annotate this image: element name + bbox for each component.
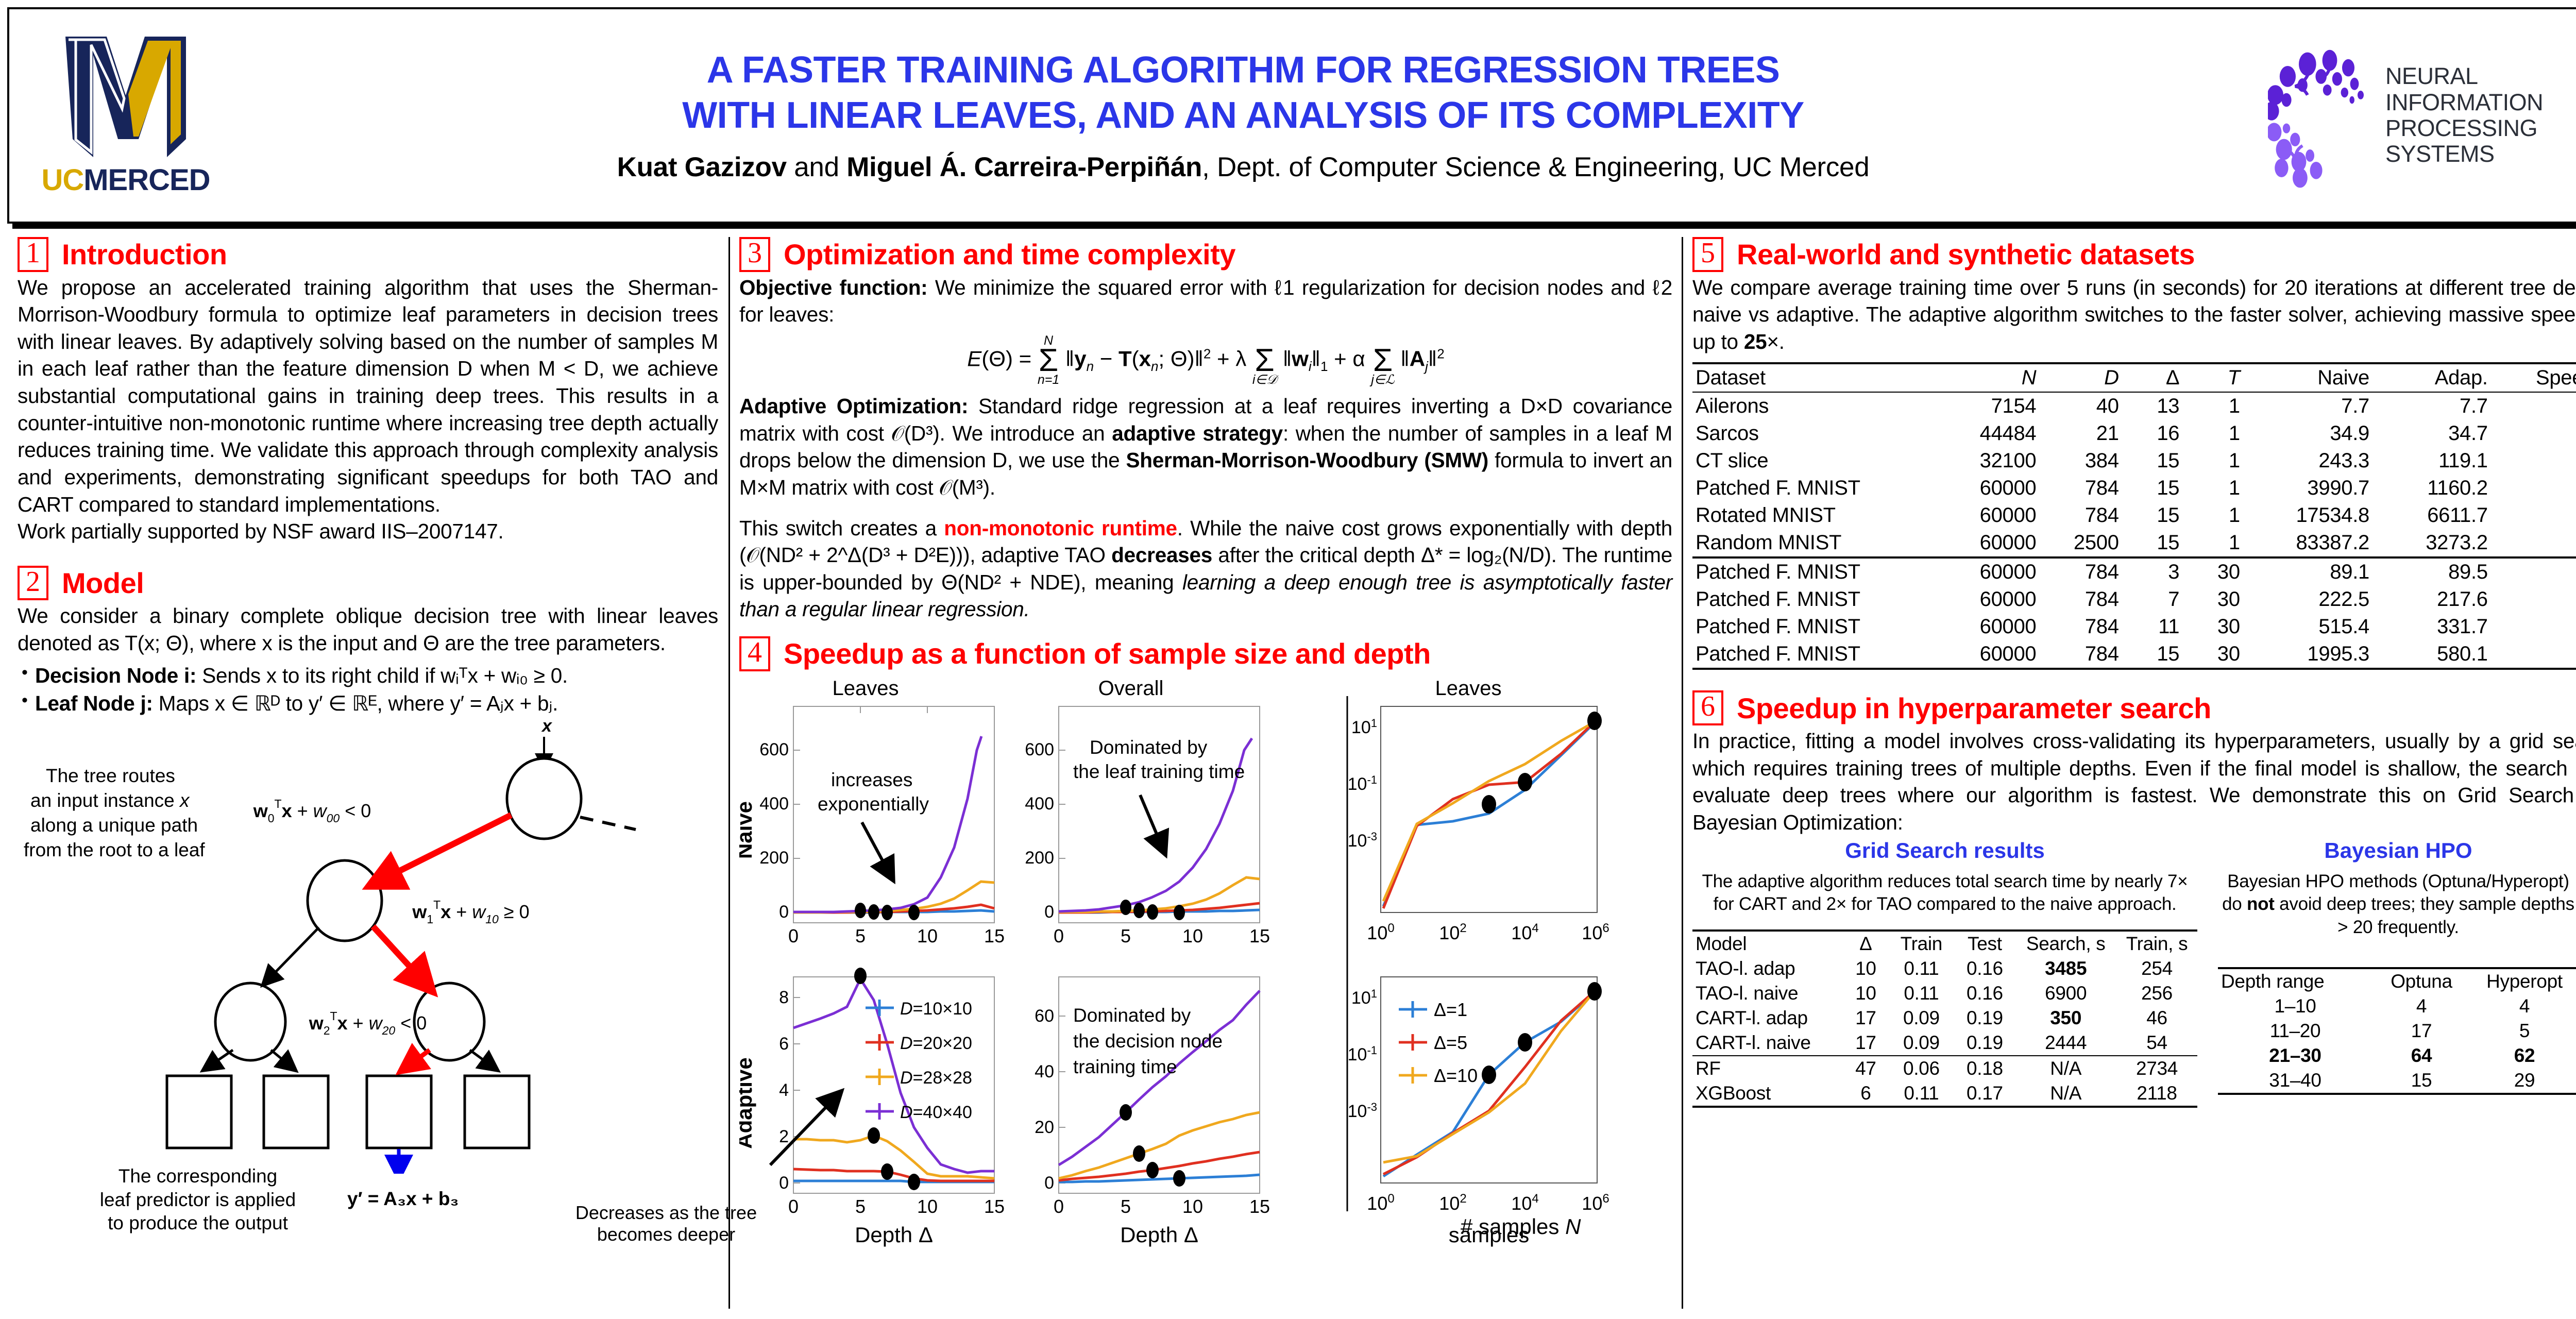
- svg-text:106: 106: [1582, 1192, 1609, 1214]
- section-1-heading: 1 Introduction: [18, 237, 718, 272]
- plot-title-overall: Overall: [1098, 677, 1164, 700]
- dataset-value-cell: 1: [2182, 392, 2243, 420]
- dataset-name-cell: Random MNIST: [1692, 529, 1929, 557]
- hpo-depth-table: Depth range Optuna Hyperopt 1–104411–201…: [2218, 967, 2576, 1095]
- legend-item-d40: D=40×40: [900, 1103, 972, 1122]
- svg-text:10: 10: [917, 925, 938, 946]
- intro-funding-note: Work partially supported by NSF award II…: [18, 518, 718, 545]
- xlabel-samples-full: # samples N: [1461, 1214, 1581, 1239]
- section-4-heading: 4 Speedup as a function of sample size a…: [739, 636, 1672, 671]
- svg-text:102: 102: [1439, 921, 1466, 943]
- tree-note-bottom: The corresponding leaf predictor is appl…: [54, 1164, 342, 1234]
- dataset-value-cell: 30: [2182, 640, 2243, 669]
- svg-text:102: 102: [1439, 1192, 1466, 1214]
- dataset-value-cell: 515.4: [2243, 613, 2372, 640]
- author-line: Kuat Gazizov and Miguel Á. Carreira-Perp…: [229, 151, 2258, 183]
- model-value-cell: 0.11: [1888, 1081, 1954, 1107]
- ylabel-naive: Naive: [739, 801, 756, 859]
- panel-naive-leaves: 0200 400600 051015: [759, 706, 1005, 946]
- model-name-cell: CART-l. naive: [1692, 1030, 1843, 1056]
- dataset-name-cell: Patched F. MNIST: [1692, 613, 1929, 640]
- adaptive-opt-label: Adaptive Optimization:: [739, 394, 968, 418]
- dataset-value-cell: 222.5: [2243, 586, 2372, 613]
- decreases-bold: decreases: [1111, 543, 1212, 567]
- tree-note-bottom-l2: leaf predictor is applied: [54, 1188, 342, 1211]
- column-1: 1 Introduction We propose an accelerated…: [7, 237, 728, 1309]
- xlabel-depth-1: Depth Δ: [855, 1223, 933, 1247]
- dataset-value-cell: 83387.2: [2243, 529, 2372, 557]
- svg-text:10: 10: [1182, 1196, 1203, 1217]
- gs-col-train: Train: [1888, 931, 1954, 956]
- dt-col-delta: Δ: [2122, 363, 2183, 392]
- poster-header: UCMERCED A FASTER TRAINING ALGORITHM FOR…: [7, 7, 2576, 224]
- neurips-wordmark: NEURAL INFORMATION PROCESSING SYSTEMS: [2385, 63, 2576, 167]
- gridsearch-table: Model Δ Train Test Search, s Train, s TA…: [1692, 929, 2197, 1108]
- adaptive-strategy-bold: adaptive strategy: [1112, 421, 1283, 445]
- affiliation: , Dept. of Computer Science & Engineerin…: [1202, 152, 1869, 182]
- non-monotonic-paragraph: This switch creates a non-monotonic runt…: [739, 515, 1672, 623]
- table-row: Patched F. MNIST60000784730222.5217.61.0: [1692, 586, 2576, 613]
- svg-text:0: 0: [788, 925, 799, 946]
- hpo-count-cell: 17: [2372, 1019, 2470, 1043]
- svg-text:15: 15: [1249, 925, 1270, 946]
- bayesian-description: Bayesian HPO methods (Optuna/Hyperopt) d…: [2218, 870, 2576, 939]
- panel-naive-leaves-N: 101 10-1 10-3 100 102 104 106: [1348, 706, 1609, 943]
- neurips-logo: NEURAL INFORMATION PROCESSING SYSTEMS: [2268, 30, 2576, 200]
- depth-range-cell: 11–20: [2218, 1019, 2372, 1043]
- dataset-value-cell: 34.7: [2372, 420, 2491, 447]
- xlabel-depth-2: Depth Δ: [1120, 1223, 1198, 1247]
- section-1-title: Introduction: [62, 238, 227, 271]
- dataset-value-cell: 1.6: [2491, 613, 2576, 640]
- model-bullet-leaf-node: Leaf Node j: Maps x ∈ ℝᴰ to y′ ∈ ℝᴱ, whe…: [18, 690, 718, 718]
- speedup-plots: Leaves Overall Leaves Naive Adaptive 020…: [739, 675, 1672, 1255]
- dataset-value-cell: 89.1: [2243, 557, 2372, 586]
- dataset-value-cell: 30: [2182, 613, 2243, 640]
- model-name-cell: RF: [1692, 1056, 1843, 1081]
- tree-leaf-box-2: [367, 1076, 431, 1148]
- svg-text:200: 200: [759, 848, 789, 868]
- dataset-value-cell: 30: [2182, 586, 2243, 613]
- dataset-value-cell: 60000: [1929, 613, 2040, 640]
- dataset-name-cell: Patched F. MNIST: [1692, 640, 1929, 669]
- section-5-heading: 5 Real-world and synthetic datasets: [1692, 237, 2576, 272]
- svg-text:5: 5: [1121, 925, 1131, 946]
- section-5-number: 5: [1692, 237, 1723, 272]
- legend-item-d10: D=10×10: [900, 999, 972, 1019]
- model-value-cell: 0.09: [1888, 1030, 1954, 1056]
- table-row: Ailerons7154401317.77.71.0: [1692, 392, 2576, 420]
- dataset-value-cell: 1160.2: [2372, 475, 2491, 502]
- dataset-value-cell: 3.4: [2491, 475, 2576, 502]
- bayesian-subhead: Bayesian HPO: [2218, 838, 2576, 863]
- dataset-name-cell: CT slice: [1692, 447, 1929, 475]
- dataset-value-cell: 7: [2122, 586, 2183, 613]
- dataset-value-cell: 3: [2122, 557, 2183, 586]
- svg-text:60: 60: [1035, 1006, 1054, 1026]
- svg-text:0: 0: [1054, 1196, 1064, 1217]
- model-value-cell: 0.11: [1888, 956, 1954, 981]
- dataset-value-cell: 1.0: [2491, 392, 2576, 420]
- model-value-cell: 2734: [2116, 1056, 2197, 1081]
- annot-decreases-l2: becomes deeper: [558, 1224, 774, 1245]
- datasets-paragraph: We compare average training time over 5 …: [1692, 274, 2576, 356]
- svg-text:400: 400: [759, 794, 789, 814]
- svg-text:8: 8: [779, 988, 789, 1007]
- decision-node-text: Sends x to its right child if wᵢᵀx + wᵢ₀…: [196, 664, 568, 687]
- hpo-col-hyperopt: Hyperopt: [2470, 968, 2576, 994]
- section-6-heading: 6 Speedup in hyperparameter search: [1692, 690, 2576, 725]
- model-bullet-decision-node: Decision Node i: Sends x to its right ch…: [18, 662, 718, 690]
- tree-edge-label-0: w0Tx + w00 < 0: [253, 797, 371, 825]
- datasets-table-header-row: Dataset N D Δ T Naive Adap. Speedup: [1692, 363, 2576, 392]
- svg-text:200: 200: [1025, 848, 1054, 868]
- legend-item-delta10: Δ=10: [1434, 1065, 1478, 1086]
- dataset-value-cell: 784: [2039, 586, 2122, 613]
- model-name-cell: TAO-l. naive: [1692, 981, 1843, 1006]
- dataset-value-cell: 3990.7: [2243, 475, 2372, 502]
- dataset-value-cell: 1: [2182, 529, 2243, 557]
- model-value-cell: 17: [1843, 1030, 1888, 1056]
- table-row: CART-l. naive170.090.19244454: [1692, 1030, 2197, 1056]
- tree-edge-label-2: w2Tx + w20 < 0: [309, 1009, 427, 1037]
- table-row: TAO-l. adap100.110.163485254: [1692, 956, 2197, 981]
- dataset-value-cell: 1.0: [2491, 420, 2576, 447]
- author-conjunction: and: [787, 152, 846, 182]
- dataset-value-cell: 784: [2039, 613, 2122, 640]
- objective-equation: E(Θ) = N Σ n=1 ‖yn − T(xn; Θ)‖2 + λ Σ i∈…: [739, 335, 1672, 385]
- svg-text:101: 101: [1351, 987, 1377, 1008]
- table-row: 11–20175: [2218, 1019, 2576, 1043]
- dataset-value-cell: 784: [2039, 475, 2122, 502]
- panel-adaptive-overall: 020 4060 051015: [1035, 977, 1270, 1247]
- uc-merced-m-icon: [61, 33, 190, 160]
- decision-node-label: Decision Node i:: [35, 664, 196, 687]
- decision-tree-figure: x: [18, 720, 718, 1174]
- svg-text:10: 10: [917, 1196, 938, 1217]
- svg-text:4: 4: [779, 1080, 789, 1100]
- svg-text:100: 100: [1367, 921, 1394, 943]
- dataset-value-cell: 7.7: [2243, 392, 2372, 420]
- svg-text:20: 20: [1035, 1118, 1054, 1137]
- tree-note-left-line2: an input instance x: [30, 790, 190, 811]
- svg-text:15: 15: [984, 925, 1005, 946]
- dataset-value-cell: 15: [2122, 502, 2183, 529]
- panel-adaptive-leaves-N: 101 10-1 10-3 100 102 104 106: [1348, 977, 1609, 1247]
- table-row: XGBoost60.110.17N/A2118: [1692, 1081, 2197, 1107]
- decision-tree-svg: x: [18, 720, 718, 1174]
- switch-text-a: This switch creates a: [739, 516, 944, 540]
- table-row: 31–401529: [2218, 1068, 2576, 1094]
- model-value-cell: 0.11: [1888, 981, 1954, 1006]
- svg-text:5: 5: [1121, 1196, 1131, 1217]
- model-value-cell: 46: [2116, 1006, 2197, 1030]
- tree-note-left-line3: along a unique path: [30, 815, 198, 836]
- hpo-count-cell: 4: [2372, 994, 2470, 1019]
- dataset-value-cell: 15: [2122, 475, 2183, 502]
- dataset-value-cell: 580.1: [2372, 640, 2491, 669]
- dataset-value-cell: 119.1: [2372, 447, 2491, 475]
- section-3-heading: 3 Optimization and time complexity: [739, 237, 1672, 272]
- tree-leaf-equation: y′ = A₃x + b₃: [347, 1188, 459, 1210]
- dataset-value-cell: 60000: [1929, 502, 2040, 529]
- panel-adaptive-leaves: 02 468 051015: [770, 968, 1005, 1247]
- model-value-cell: 0.06: [1888, 1056, 1954, 1081]
- table-row: TAO-l. naive100.110.166900256: [1692, 981, 2197, 1006]
- poster-columns: 1 Introduction We propose an accelerated…: [7, 237, 2576, 1309]
- objective-paragraph: Objective function: We minimize the squa…: [739, 274, 1672, 328]
- hpo-count-cell: 4: [2470, 994, 2576, 1019]
- neurips-line2: PROCESSING SYSTEMS: [2385, 115, 2576, 167]
- svg-text:600: 600: [759, 740, 789, 759]
- dataset-value-cell: 384: [2039, 447, 2122, 475]
- model-value-cell: 54: [2116, 1030, 2197, 1056]
- hpo-count-cell: 64: [2372, 1043, 2470, 1068]
- annot-increases-l2: exponentially: [818, 793, 929, 815]
- model-name-cell: CART-l. adap: [1692, 1006, 1843, 1030]
- section-4-title: Speedup as a function of sample size and…: [784, 637, 1431, 670]
- section-4-number: 4: [739, 636, 770, 671]
- table-row: 21–306462: [2218, 1043, 2576, 1068]
- page-title-line2: WITH LINEAR LEAVES, AND AN ANALYSIS OF I…: [229, 93, 2258, 139]
- gridsearch-block: Grid Search results The adaptive algorit…: [1692, 838, 2197, 1108]
- svg-text:10-1: 10-1: [1348, 1044, 1377, 1064]
- hpo-body: 1–104411–2017521–30646231–401529: [2218, 994, 2576, 1094]
- dataset-value-cell: 34.9: [2243, 420, 2372, 447]
- page-title-line1: A FASTER TRAINING ALGORITHM FOR REGRESSI…: [229, 48, 2258, 93]
- hpo-count-cell: 62: [2470, 1043, 2576, 1068]
- section-6-title: Speedup in hyperparameter search: [1737, 691, 2211, 725]
- legend-item-delta5: Δ=5: [1434, 1032, 1467, 1053]
- svg-text:10: 10: [1182, 925, 1203, 946]
- section-6-number: 6: [1692, 690, 1723, 725]
- dataset-value-cell: 2500: [2039, 529, 2122, 557]
- table-row: 1–1044: [2218, 994, 2576, 1019]
- svg-text:104: 104: [1511, 1192, 1538, 1214]
- hpo-count-cell: 29: [2470, 1068, 2576, 1094]
- gs-header-row: Model Δ Train Test Search, s Train, s: [1692, 931, 2197, 956]
- table-row: Patched F. MNIST6000078415301995.3580.13…: [1692, 640, 2576, 669]
- poster-root: UCMERCED A FASTER TRAINING ALGORITHM FOR…: [0, 0, 2576, 1319]
- panel-naive-overall: 0200 400600 051015: [1025, 706, 1270, 946]
- neurips-line1: NEURAL INFORMATION: [2385, 63, 2576, 115]
- tree-node-root: [507, 758, 581, 839]
- dt-col-naive: Naive: [2243, 363, 2372, 392]
- dataset-value-cell: 7154: [1929, 392, 2040, 420]
- gridsearch-subhead: Grid Search results: [1692, 838, 2197, 863]
- bayesian-block: Bayesian HPO Bayesian HPO methods (Optun…: [2218, 838, 2576, 1108]
- tree-leaf-box-0: [167, 1076, 231, 1148]
- section-3-number: 3: [739, 237, 770, 272]
- tree-leaf-box-1: [264, 1076, 328, 1148]
- annot-dominated-leaf-l1: Dominated by: [1090, 737, 1208, 758]
- model-value-cell: 0.17: [1954, 1081, 2015, 1107]
- svg-text:2: 2: [779, 1127, 789, 1146]
- dataset-value-cell: 32100: [1929, 447, 2040, 475]
- dataset-value-cell: 217.6: [2372, 586, 2491, 613]
- legend-item-d28: D=28×28: [900, 1068, 972, 1088]
- model-value-cell: 2444: [2015, 1030, 2116, 1056]
- dt-col-t: T: [2182, 363, 2243, 392]
- section-1-number: 1: [18, 237, 48, 272]
- hpo-count-cell: 5: [2470, 1019, 2576, 1043]
- gs-col-delta: Δ: [1843, 931, 1888, 956]
- gs-col-train-s: Train, s: [2116, 931, 2197, 956]
- svg-text:0: 0: [779, 1173, 789, 1193]
- dataset-value-cell: 13: [2122, 392, 2183, 420]
- dataset-value-cell: 44484: [1929, 420, 2040, 447]
- dataset-value-cell: 2.0: [2491, 447, 2576, 475]
- hpo-header-row: Depth range Optuna Hyperopt: [2218, 968, 2576, 994]
- uc-merced-wordmark: UCMERCED: [41, 163, 210, 197]
- model-value-cell: 2118: [2116, 1081, 2197, 1107]
- hpo-count-cell: 15: [2372, 1068, 2470, 1094]
- svg-text:100: 100: [1367, 1192, 1394, 1214]
- section-5-title: Real-world and synthetic datasets: [1737, 238, 2195, 271]
- table-row: RF470.060.18N/A2734: [1692, 1056, 2197, 1081]
- annot-dominated-node-l1: Dominated by: [1073, 1005, 1191, 1026]
- table-row: CART-l. adap170.090.1935046: [1692, 1006, 2197, 1030]
- model-value-cell: N/A: [2015, 1056, 2116, 1081]
- dataset-value-cell: 15: [2122, 447, 2183, 475]
- model-value-cell: 256: [2116, 981, 2197, 1006]
- dataset-value-cell: 11: [2122, 613, 2183, 640]
- plot-title-leaves: Leaves: [833, 677, 899, 700]
- dataset-value-cell: 25.5: [2491, 529, 2576, 557]
- svg-text:15: 15: [1249, 1196, 1270, 1217]
- annot-decreases-l1: Decreases as the tree: [558, 1202, 774, 1224]
- column-3: 5 Real-world and synthetic datasets We c…: [1682, 237, 2576, 1309]
- objective-label: Objective function:: [739, 276, 927, 299]
- datasets-table: Dataset N D Δ T Naive Adap. Speedup Aile…: [1692, 362, 2576, 670]
- dataset-value-cell: 16: [2122, 420, 2183, 447]
- svg-text:101: 101: [1351, 717, 1377, 737]
- author-name-1: Kuat Gazizov: [617, 152, 787, 182]
- model-value-cell: 350: [2015, 1006, 2116, 1030]
- non-monotonic-runtime-highlight: non-monotonic runtime: [944, 516, 1177, 540]
- datasets-text-b: ×.: [1767, 330, 1784, 353]
- model-name-cell: XGBoost: [1692, 1081, 1843, 1107]
- dataset-value-cell: 2.7: [2491, 502, 2576, 529]
- tree-note-left-line4: from the root to a leaf: [24, 839, 205, 860]
- smw-bold: Sherman-Morrison-Woodbury (SMW): [1126, 448, 1489, 472]
- annot-dominated-leaf-l2: the leaf training time: [1073, 761, 1245, 782]
- depth-range-cell: 21–30: [2218, 1043, 2372, 1068]
- dt-col-dataset: Dataset: [1692, 363, 1929, 392]
- svg-text:106: 106: [1582, 921, 1609, 943]
- model-value-cell: 0.16: [1954, 981, 2015, 1006]
- ylabel-adaptive: Adaptive: [739, 1057, 756, 1148]
- table-row: Patched F. MNIST600007841513990.71160.23…: [1692, 475, 2576, 502]
- dataset-name-cell: Ailerons: [1692, 392, 1929, 420]
- table-row: Sarcos444842116134.934.71.0: [1692, 420, 2576, 447]
- model-value-cell: 3485: [2015, 956, 2116, 981]
- table-row: Random MNIST60000250015183387.23273.225.…: [1692, 529, 2576, 557]
- annot-decreases: Decreases as the tree becomes deeper: [558, 1202, 774, 1246]
- dataset-value-cell: 89.5: [2372, 557, 2491, 586]
- dataset-value-cell: 15: [2122, 529, 2183, 557]
- svg-text:600: 600: [1025, 740, 1054, 759]
- model-value-cell: 10: [1843, 956, 1888, 981]
- model-name-cell: TAO-l. adap: [1692, 956, 1843, 981]
- tree-note-left-line1: The tree routes: [46, 765, 175, 786]
- bayes-text-b: avoid deep trees; they sample depths > 2…: [2275, 894, 2574, 937]
- legend-item-d20: D=20×20: [900, 1034, 972, 1053]
- plot-title-leaves-2: Leaves: [1435, 677, 1502, 700]
- uc-merced-uc-text: UC: [41, 163, 83, 197]
- svg-text:0: 0: [779, 902, 789, 922]
- dt-col-speedup: Speedup: [2491, 363, 2576, 392]
- table-row: Patched F. MNIST600007841130515.4331.71.…: [1692, 613, 2576, 640]
- dataset-value-cell: 60000: [1929, 640, 2040, 669]
- svg-text:400: 400: [1025, 794, 1054, 814]
- dataset-value-cell: 1: [2182, 475, 2243, 502]
- datasets-table-body-group2: Patched F. MNIST6000078433089.189.51.0Pa…: [1692, 557, 2576, 669]
- model-value-cell: 0.09: [1888, 1006, 1954, 1030]
- table-row: Rotated MNIST6000078415117534.86611.72.7: [1692, 502, 2576, 529]
- table-row: CT slice32100384151243.3119.12.0: [1692, 447, 2576, 475]
- depth-range-cell: 1–10: [2218, 994, 2372, 1019]
- dataset-name-cell: Rotated MNIST: [1692, 502, 1929, 529]
- author-name-2: Miguel Á. Carreira-Perpiñán: [846, 152, 1202, 182]
- tree-node-ll: [215, 983, 285, 1060]
- tree-leaf-box-3: [465, 1076, 529, 1148]
- annot-dominated-node-l2: the decision node: [1073, 1030, 1223, 1052]
- dataset-name-cell: Sarcos: [1692, 420, 1929, 447]
- intro-paragraph-1: We propose an accelerated training algor…: [18, 274, 718, 518]
- leaf-node-text: Maps x ∈ ℝᴰ to y′ ∈ ℝᴱ, where y′ = Aⱼx +…: [153, 691, 558, 715]
- dataset-value-cell: 1: [2182, 420, 2243, 447]
- svg-text:5: 5: [855, 925, 866, 946]
- svg-text:5: 5: [855, 1196, 866, 1217]
- tree-note-bottom-l3: to produce the output: [54, 1211, 342, 1235]
- dataset-value-cell: 1995.3: [2243, 640, 2372, 669]
- uc-merced-logo: UCMERCED: [33, 30, 218, 200]
- dataset-value-cell: 1.0: [2491, 586, 2576, 613]
- tree-input-label: x: [541, 720, 553, 736]
- dataset-name-cell: Patched F. MNIST: [1692, 557, 1929, 586]
- bayes-not-bold: not: [2247, 894, 2275, 914]
- dataset-value-cell: 30: [2182, 557, 2243, 586]
- section-2-number: 2: [18, 566, 48, 601]
- svg-text:0: 0: [1054, 925, 1064, 946]
- model-value-cell: 47: [1843, 1056, 1888, 1081]
- speedup-plots-svg: Leaves Overall Leaves Naive Adaptive 020…: [739, 675, 1662, 1253]
- dataset-value-cell: 3273.2: [2372, 529, 2491, 557]
- annot-increases-l1: increases: [831, 769, 912, 790]
- tree-note-bottom-l1: The corresponding: [54, 1164, 342, 1188]
- gs-col-search: Search, s: [2015, 931, 2116, 956]
- datasets-speedup-bold: 25: [1744, 330, 1767, 353]
- legend-item-delta1: Δ=1: [1434, 999, 1467, 1020]
- model-value-cell: 254: [2116, 956, 2197, 981]
- svg-text:6: 6: [779, 1034, 789, 1054]
- dataset-name-cell: Patched F. MNIST: [1692, 475, 1929, 502]
- datasets-text-a: We compare average training time over 5 …: [1692, 276, 2576, 353]
- model-value-cell: 0.19: [1954, 1030, 2015, 1056]
- model-value-cell: 0.18: [1954, 1056, 2015, 1081]
- hpo-col-depthrange: Depth range: [2218, 968, 2372, 994]
- dt-col-d: D: [2039, 363, 2122, 392]
- svg-text:10-1: 10-1: [1348, 773, 1377, 794]
- model-value-cell: 0.19: [1954, 1006, 2015, 1030]
- gridsearch-description: The adaptive algorithm reduces total sea…: [1692, 870, 2197, 917]
- dt-col-n: N: [1929, 363, 2040, 392]
- dataset-value-cell: 60000: [1929, 586, 2040, 613]
- hpo-col-optuna: Optuna: [2372, 968, 2470, 994]
- svg-text:0: 0: [1044, 902, 1054, 922]
- tree-edge-label-1: w1Tx + w10 ≥ 0: [412, 898, 529, 926]
